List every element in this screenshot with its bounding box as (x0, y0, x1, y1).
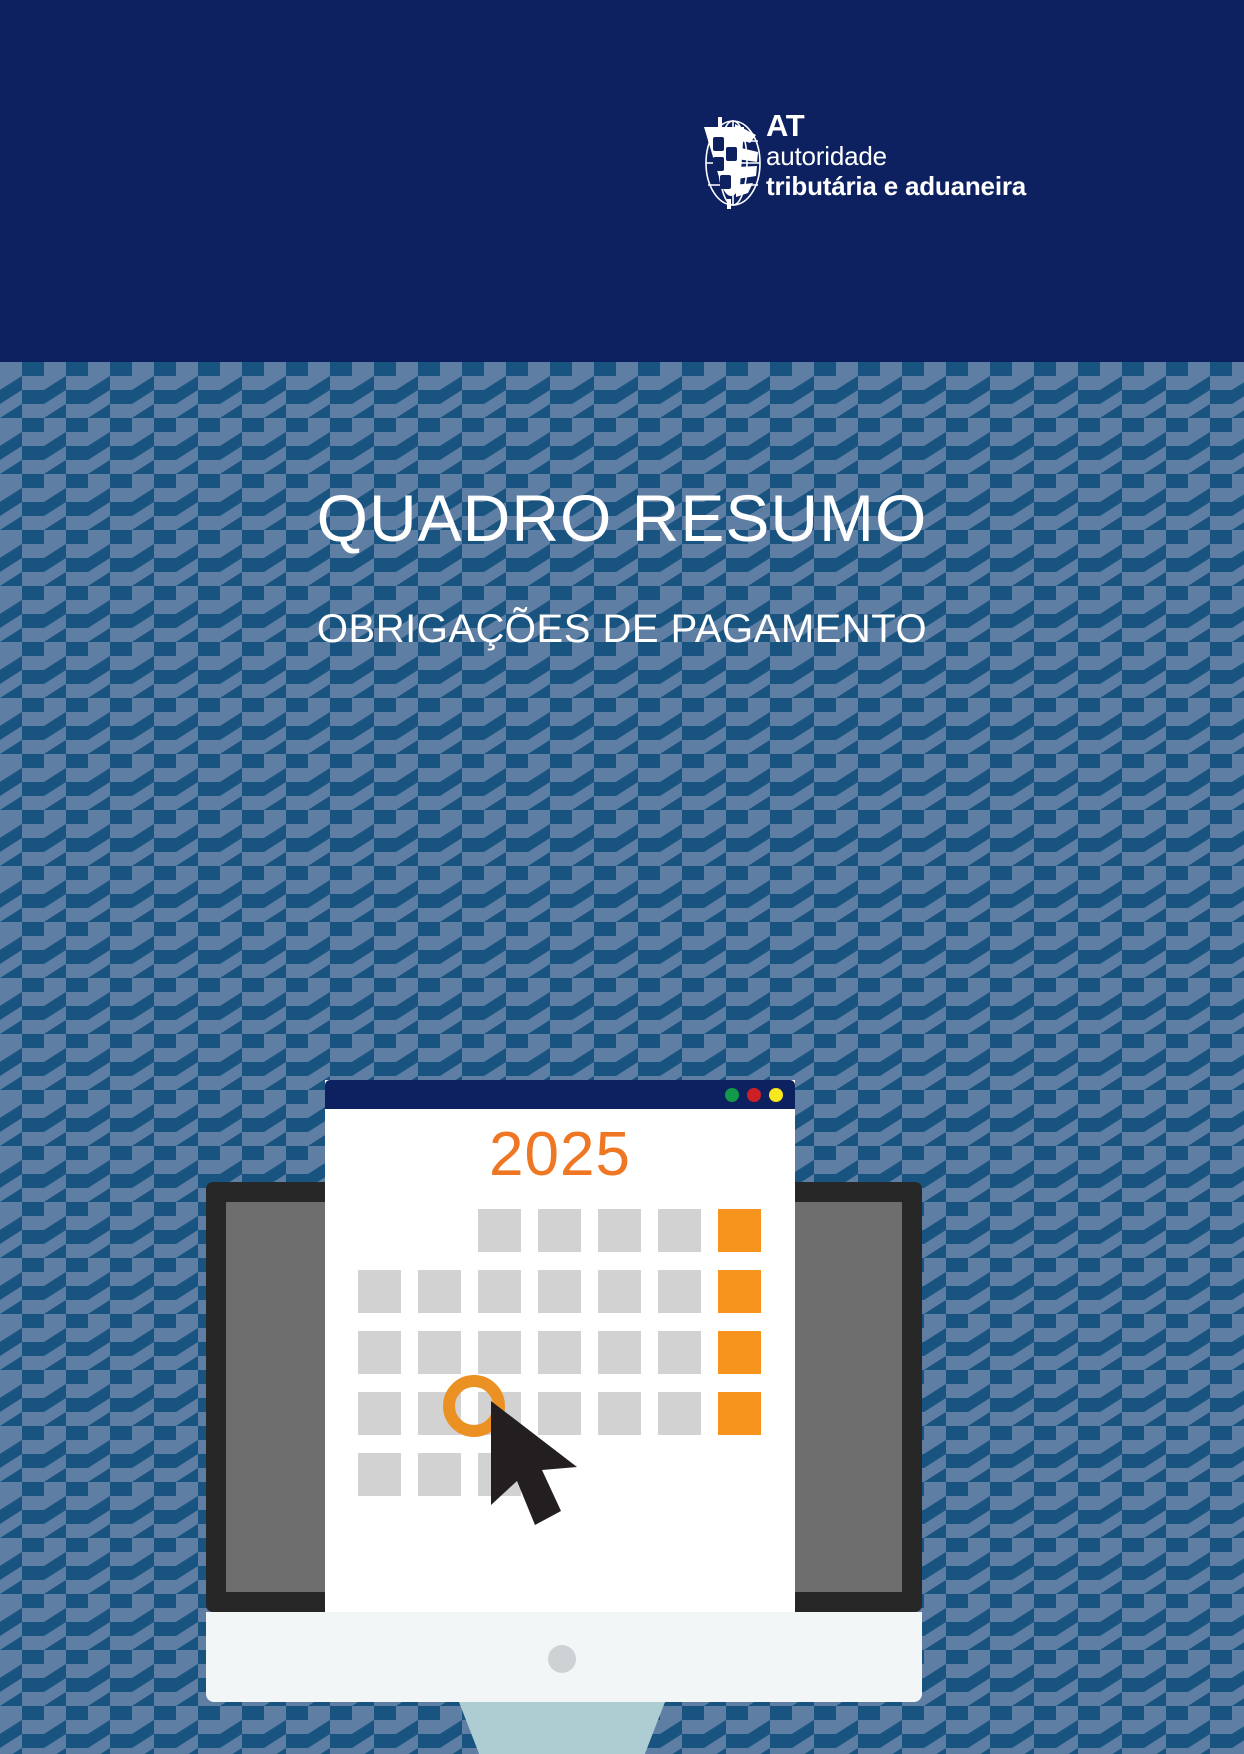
monitor-power-indicator (548, 1645, 576, 1673)
calendar-cell[interactable] (598, 1331, 641, 1374)
calendar-cell-highlight[interactable] (718, 1392, 761, 1435)
cover-page: AT autoridade tributária e aduaneira (0, 0, 1244, 1754)
calendar-cell-highlight[interactable] (718, 1270, 761, 1313)
calendar-cell-blank (358, 1209, 401, 1252)
browser-titlebar (325, 1080, 795, 1109)
at-logo-wordmark: AT autoridade tributária e aduaneira (766, 111, 1046, 201)
calendar-cell-blank (598, 1453, 641, 1496)
calendar-cell-blank (718, 1453, 761, 1496)
calendar-row (358, 1270, 762, 1313)
calendar-cell[interactable] (538, 1209, 581, 1252)
calendar-cell[interactable] (538, 1331, 581, 1374)
calendar-cell[interactable] (658, 1209, 701, 1252)
at-logo: AT autoridade tributária e aduaneira (700, 113, 1040, 213)
calendar-cell[interactable] (598, 1392, 641, 1435)
logo-line-tributaria: tributária e aduaneira (766, 171, 1046, 201)
calendar-cell[interactable] (418, 1453, 461, 1496)
calendar-cell-highlight[interactable] (718, 1209, 761, 1252)
calendar-cell[interactable] (598, 1209, 641, 1252)
calendar-cell[interactable] (658, 1270, 701, 1313)
page-subtitle: OBRIGAÇÕES DE PAGAMENTO (0, 607, 1244, 652)
monitor-stand (459, 1702, 665, 1754)
calendar-cell[interactable] (478, 1209, 521, 1252)
calendar-cell[interactable] (418, 1270, 461, 1313)
window-dot-red[interactable] (747, 1088, 761, 1102)
window-dot-green[interactable] (725, 1088, 739, 1102)
calendar-row (358, 1209, 762, 1252)
calendar-row (358, 1331, 762, 1374)
calendar-cell[interactable] (358, 1270, 401, 1313)
calendar-cell[interactable] (358, 1331, 401, 1374)
calendar-cell[interactable] (358, 1453, 401, 1496)
calendar-cell[interactable] (598, 1270, 641, 1313)
calendar-cell[interactable] (478, 1331, 521, 1374)
calendar-cell[interactable] (478, 1270, 521, 1313)
calendar-cell[interactable] (418, 1331, 461, 1374)
header-band: AT autoridade tributária e aduaneira (0, 0, 1244, 362)
browser-window: 2025 (325, 1080, 795, 1612)
page-title: QUADRO RESUMO (0, 480, 1244, 556)
calendar-cell-highlight[interactable] (718, 1331, 761, 1374)
chevron-pattern-background: QUADRO RESUMO OBRIGAÇÕES DE PAGAMENTO (0, 362, 1244, 1754)
calendar-cell-blank (418, 1209, 461, 1252)
calendar-cell[interactable] (658, 1392, 701, 1435)
logo-line-autoridade: autoridade (766, 141, 1046, 171)
calendar-cell[interactable] (658, 1331, 701, 1374)
calendar-cell[interactable] (538, 1270, 581, 1313)
calendar-cell[interactable] (358, 1392, 401, 1435)
mouse-pointer-cursor (485, 1397, 595, 1537)
calendar-year-label: 2025 (325, 1119, 795, 1190)
logo-line-at: AT (766, 111, 1046, 141)
portugal-shield-globe-icon (700, 113, 762, 211)
window-controls (725, 1088, 783, 1102)
window-dot-yellow[interactable] (769, 1088, 783, 1102)
desktop-monitor-illustration: 2025 (200, 717, 930, 1754)
calendar-cell-blank (658, 1453, 701, 1496)
browser-content: 2025 (325, 1109, 795, 1612)
